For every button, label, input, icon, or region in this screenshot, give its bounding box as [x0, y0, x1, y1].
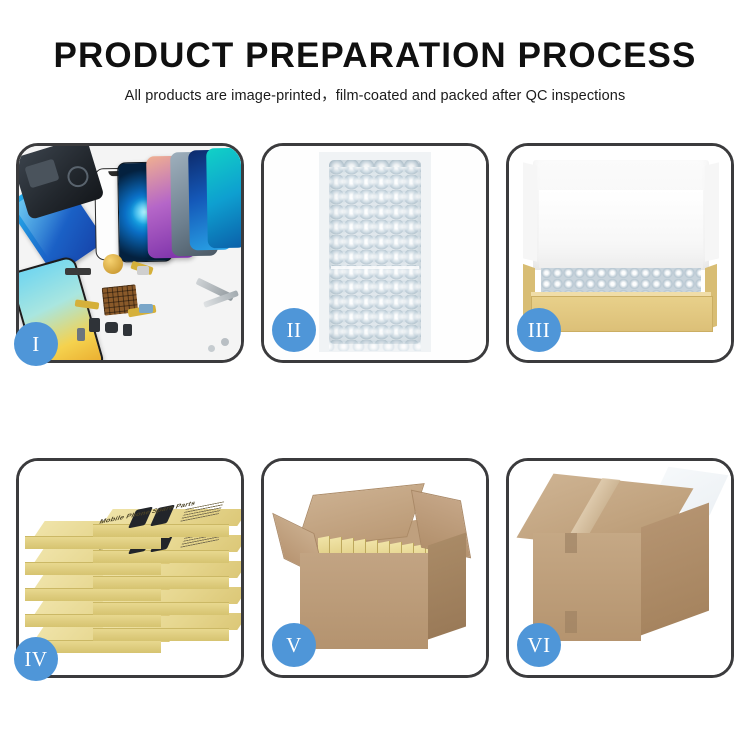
page-subtitle: All products are image-printed，film-coat…: [0, 76, 750, 105]
header: PRODUCT PREPARATION PROCESS All products…: [0, 0, 750, 105]
step-4-image: Mobile Phone Spare Parts Mobile Phone Sp…: [19, 461, 241, 675]
step-badge-2: II: [272, 308, 316, 352]
small-part-icon-6: [139, 304, 153, 313]
step-badge-3: III: [517, 308, 561, 352]
carton-side-panel: [428, 532, 466, 639]
bubble-wrap-layer-2: [329, 167, 421, 351]
stacked-boxes-scene: Mobile Phone Spare Parts Mobile Phone Sp…: [19, 461, 241, 675]
process-step-2: II: [261, 143, 489, 363]
process-step-6: VI: [506, 458, 734, 678]
process-step-1: I: [16, 143, 244, 363]
carton-front-panel: [300, 553, 428, 649]
page-title: PRODUCT PREPARATION PROCESS: [0, 0, 750, 76]
product-preparation-infographic: PRODUCT PREPARATION PROCESS All products…: [0, 0, 750, 750]
carton-right-panel: [641, 503, 709, 636]
small-part-icon-2: [105, 322, 118, 333]
carton-seam-bottom: [565, 611, 577, 633]
small-part-icon-4: [77, 328, 85, 341]
step-badge-4: IV: [14, 637, 58, 681]
speaker-coil-icon: [103, 254, 123, 274]
small-part-icon-3: [123, 324, 132, 336]
small-part-icon-1: [89, 318, 100, 332]
phone-logic-board-icon: [19, 146, 105, 220]
wrap-seam: [331, 266, 419, 269]
phone-parts-scene: [19, 146, 241, 360]
box-stack: Mobile Phone Spare Parts Mobile Phone Sp…: [21, 479, 241, 669]
screw-icon-2: [208, 345, 215, 352]
carton-seam-top: [565, 533, 577, 553]
process-step-grid: I II: [16, 143, 734, 678]
antenna-bar-icon: [65, 268, 91, 275]
foam-sheet-icon: [539, 190, 703, 268]
phone-teal-icon: [206, 148, 241, 249]
screw-icon-1: [221, 338, 229, 346]
step-badge-6: VI: [517, 623, 561, 667]
small-part-icon-5: [137, 266, 149, 275]
stacked-box-r1: Mobile Phone Spare Parts: [93, 509, 241, 535]
process-step-3: III: [506, 143, 734, 363]
process-step-4: Mobile Phone Spare Parts Mobile Phone Sp…: [16, 458, 244, 678]
step-badge-1: I: [14, 322, 58, 366]
process-step-5: V: [261, 458, 489, 678]
step-badge-5: V: [272, 623, 316, 667]
step-1-image: [19, 146, 241, 360]
